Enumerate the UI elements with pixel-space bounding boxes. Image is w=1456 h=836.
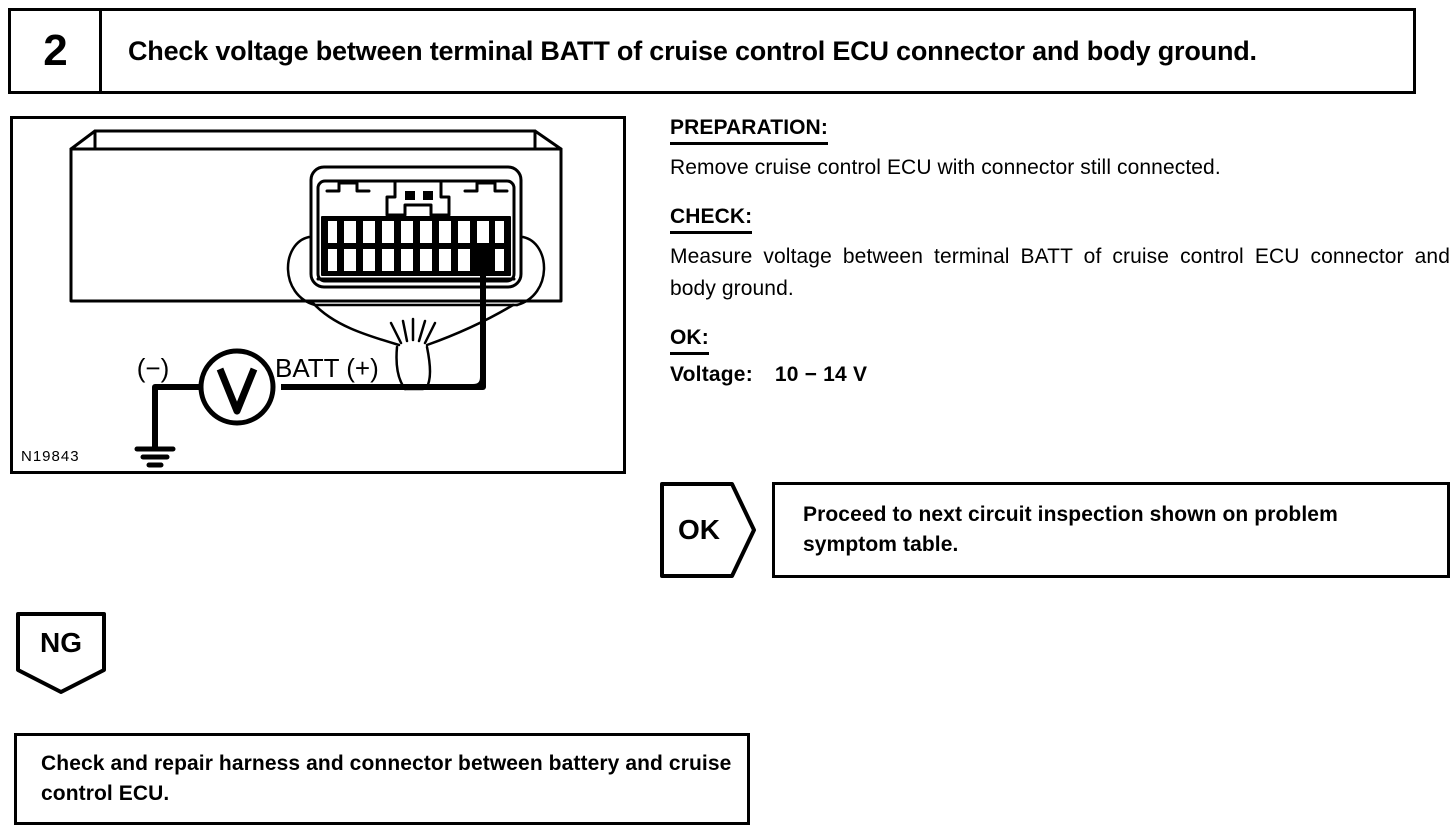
wiring-test-diagram: (−) BATT (+) bbox=[13, 119, 623, 471]
negative-test-lead bbox=[155, 387, 201, 449]
figure-id: N19843 bbox=[21, 448, 80, 465]
connector-latch bbox=[387, 181, 449, 215]
illustration-panel: (−) BATT (+) N19843 bbox=[10, 116, 626, 474]
preparation-heading: PREPARATION: bbox=[670, 116, 828, 145]
ng-flag: NG bbox=[16, 612, 106, 694]
harness-bundle-right-edge bbox=[427, 347, 430, 387]
positive-lead-corner bbox=[473, 377, 483, 387]
harness-bundle-strands bbox=[391, 319, 435, 343]
ok-flag-label: OK bbox=[660, 482, 738, 578]
preparation-body: Remove cruise control ECU with connector… bbox=[670, 152, 1450, 184]
step-number: 2 bbox=[43, 29, 66, 73]
ng-flag-label: NG bbox=[16, 612, 106, 674]
ground-symbol bbox=[137, 449, 173, 465]
ng-result-box: Check and repair harness and connector b… bbox=[14, 733, 750, 825]
check-body: Measure voltage between terminal BATT of… bbox=[670, 241, 1450, 304]
step-number-cell: 2 bbox=[11, 11, 102, 91]
ok-result-box: Proceed to next circuit inspection shown… bbox=[772, 482, 1450, 578]
harness-wire-left bbox=[313, 303, 399, 345]
check-heading: CHECK: bbox=[670, 205, 752, 234]
step-title-cell: Check voltage between terminal BATT of c… bbox=[102, 11, 1413, 91]
latch-hole-left bbox=[405, 191, 415, 200]
ng-result-text: Check and repair harness and connector b… bbox=[17, 749, 747, 810]
ecu-top-bevel bbox=[71, 131, 561, 149]
ok-branch: OK Proceed to next circuit inspection sh… bbox=[660, 482, 1450, 578]
ok-spec-section: OK: Voltage:10 − 14 V bbox=[670, 326, 1450, 387]
harness-wire-right bbox=[427, 305, 513, 345]
positive-lead-label: BATT (+) bbox=[275, 353, 379, 383]
check-section: CHECK: Measure voltage between terminal … bbox=[670, 205, 1450, 304]
lock-tab-left bbox=[327, 183, 369, 191]
ok-spec-line: Voltage:10 − 14 V bbox=[670, 363, 1450, 387]
instruction-column: PREPARATION: Remove cruise control ECU w… bbox=[670, 116, 1450, 387]
ok-spec-heading: OK: bbox=[670, 326, 709, 355]
preparation-section: PREPARATION: Remove cruise control ECU w… bbox=[670, 116, 1450, 183]
ng-branch: NG bbox=[16, 612, 106, 694]
step-header: 2 Check voltage between terminal BATT of… bbox=[8, 8, 1416, 94]
step-title: Check voltage between terminal BATT of c… bbox=[128, 34, 1257, 69]
ok-spec-label: Voltage: bbox=[670, 363, 753, 386]
batt-terminal-marker bbox=[477, 249, 489, 271]
latch-hole-right bbox=[423, 191, 433, 200]
ok-flag: OK bbox=[660, 482, 756, 578]
lock-tab-right bbox=[465, 183, 507, 191]
ok-result-text: Proceed to next circuit inspection shown… bbox=[775, 500, 1447, 560]
harness-bundle-left-edge bbox=[396, 347, 405, 389]
ok-spec-value: 10 − 14 V bbox=[775, 363, 867, 386]
negative-lead-label: (−) bbox=[137, 353, 170, 383]
